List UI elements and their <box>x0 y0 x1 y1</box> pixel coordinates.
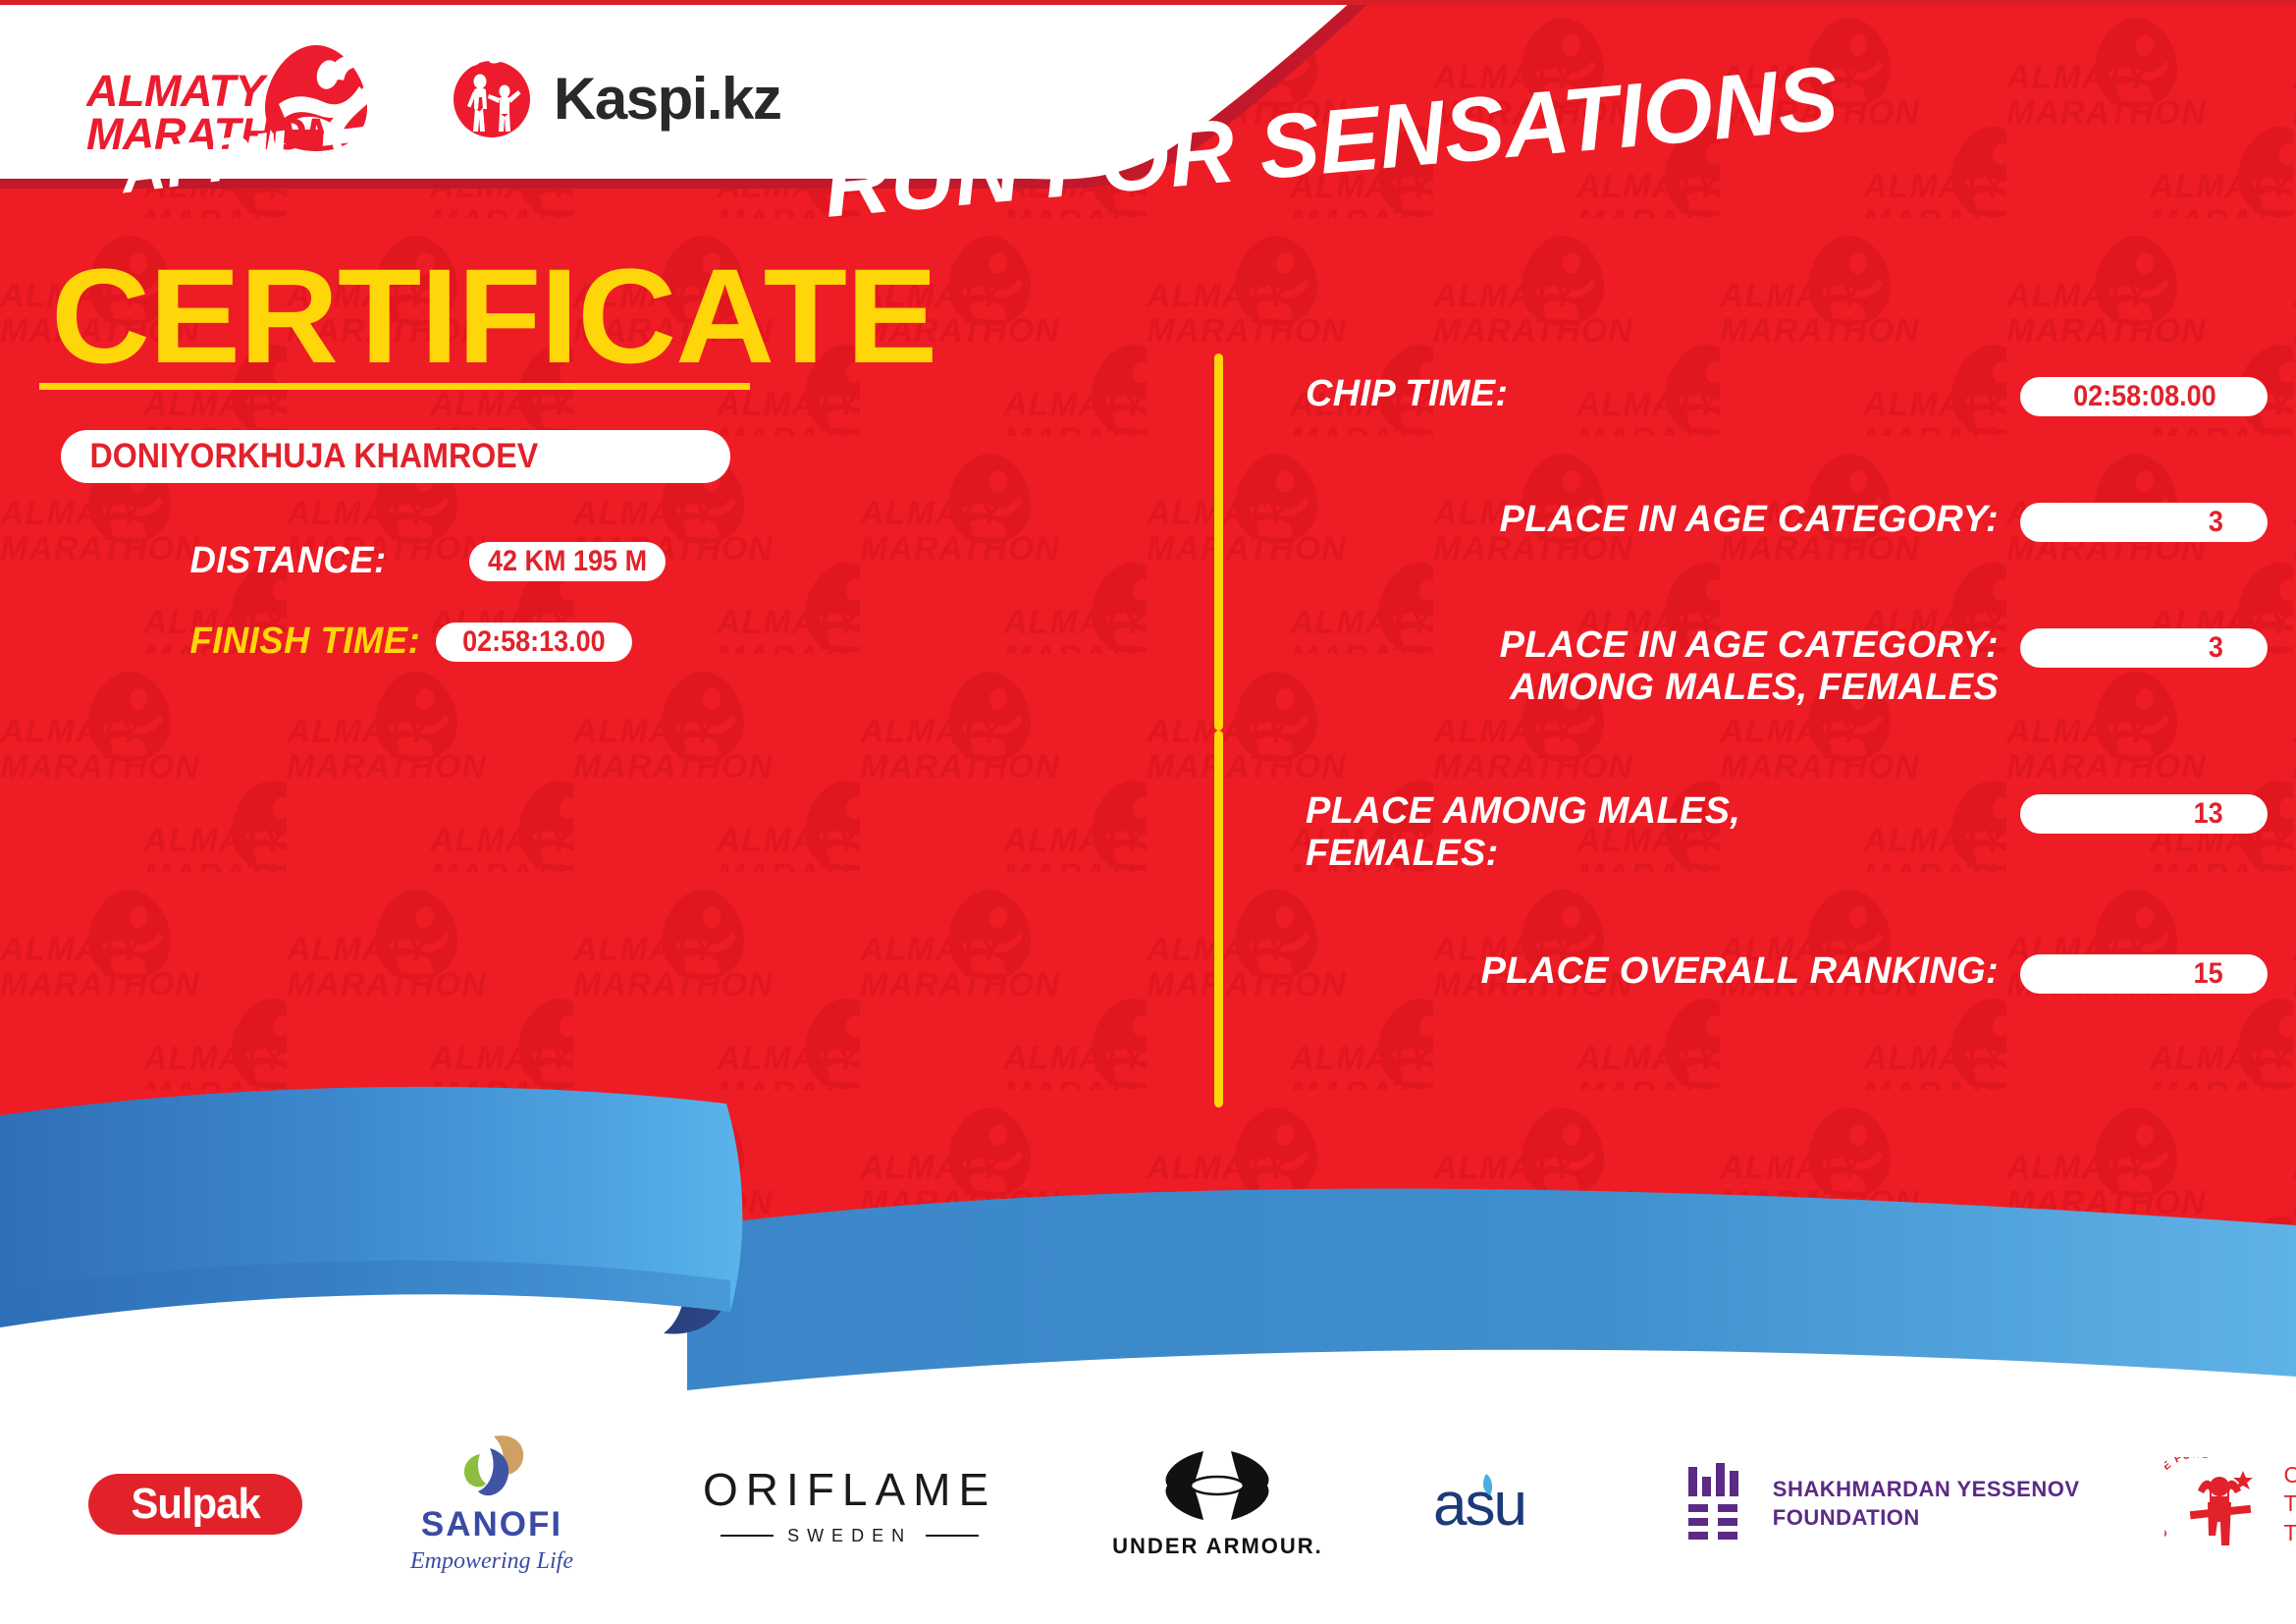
oriflame-wordmark: ORIFLAME <box>703 1463 996 1516</box>
under-armour-wordmark: UNDER ARMOUR. <box>1112 1534 1323 1559</box>
sponsor-strip: Sulpak SANOFI Empowering Life ORIFLAME S… <box>0 1406 2296 1602</box>
sulpak-pill: Sulpak <box>88 1474 302 1535</box>
sponsor-logo-yessenov-foundation: SHAKHMARDAN YESSENOV FOUNDATION <box>1686 1463 2080 1545</box>
place-age-category-among-label-line1: PLACE IN AGE CATEGORY: <box>1500 624 1999 666</box>
finish-time-label: FINISH TIME: <box>189 621 412 663</box>
certificate-right-column: CHIP TIME: 02:58:08.00 PLACE IN AGE CATE… <box>1276 373 2268 1119</box>
place-among-males-females-value: 13 <box>2193 797 2222 831</box>
result-row-place-among-males-females: PLACE AMONG MALES, FEMALES: 13 <box>1276 790 2268 874</box>
distance-row: DISTANCE: 42 KM 195 M <box>181 540 666 582</box>
sponsor-logo-oriflame: ORIFLAME SWEDEN <box>703 1463 996 1546</box>
place-among-males-females-value-pill: 13 <box>2020 794 2268 834</box>
sponsor-logo-sanofi: SANOFI Empowering Life <box>410 1435 573 1575</box>
place-age-category-among-value-pill: 3 <box>2020 628 2268 668</box>
oriflame-country: SWEDEN <box>787 1526 912 1546</box>
courage-fund-wordmark: COURAGE TO BE THE FIRST! <box>2284 1461 2296 1547</box>
column-divider-bottom <box>1214 731 1223 1108</box>
athlete-name-field: DONIYORKHUJA KHAMROEV <box>61 430 730 483</box>
svg-text:CORPORATE FUND: CORPORATE FUND <box>2164 1457 2212 1540</box>
courage-fund-mark-icon: CORPORATE FUND <box>2164 1457 2269 1551</box>
svg-text:asu: asu <box>1433 1471 1525 1539</box>
place-overall-ranking-label: PLACE OVERALL RANKING: <box>1276 950 2020 993</box>
courage-line3: THE FIRST! <box>2284 1520 2296 1545</box>
finish-time-value: 02:58:13.00 <box>462 625 606 659</box>
place-age-category-among-label-line2: AMONG MALES, FEMALES <box>1510 667 1999 708</box>
under-armour-mark-icon <box>1160 1449 1274 1522</box>
courage-line2: TO BE <box>2284 1490 2296 1516</box>
chip-time-label: CHIP TIME: <box>1276 373 2020 415</box>
asu-wordmark-icon: asu <box>1433 1468 1586 1541</box>
oriflame-sub-group: SWEDEN <box>703 1526 996 1546</box>
chip-time-value-pill: 02:58:08.00 <box>2020 377 2268 416</box>
finish-time-value-pill: 02:58:13.00 <box>436 623 632 662</box>
distance-label: DISTANCE: <box>189 540 412 582</box>
yessenov-mark-icon <box>1686 1463 1747 1545</box>
top-divider-rule <box>0 0 2296 5</box>
event-day: 21 <box>311 24 465 166</box>
courage-fund-arc-text: CORPORATE FUND <box>2164 1457 2212 1540</box>
sulpak-wordmark: Sulpak <box>131 1480 259 1529</box>
place-age-category-label: PLACE IN AGE CATEGORY: <box>1276 499 2020 541</box>
sponsor-logo-courage-fund: CORPORATE FUND COURAGE TO BE THE FIRST! <box>2164 1457 2296 1551</box>
athlete-name-value: DONIYORKHUJA KHAMROEV <box>61 437 538 476</box>
place-age-category-among-label: PLACE IN AGE CATEGORY: AMONG MALES, FEMA… <box>1276 624 2020 708</box>
event-ribbon-banner <box>0 1080 2296 1404</box>
sponsor-logo-asu: asu <box>1433 1468 1586 1541</box>
sanofi-tagline: Empowering Life <box>410 1548 573 1575</box>
place-age-category-among-value: 3 <box>2209 631 2223 665</box>
place-age-category-value: 3 <box>2209 506 2223 539</box>
event-day-suffix: st <box>452 16 504 80</box>
kaspi-wordmark: Kaspi.kz <box>554 70 780 129</box>
sanofi-wordmark: SANOFI <box>421 1505 562 1544</box>
sponsor-logo-sulpak: Sulpak <box>88 1474 302 1535</box>
certificate-card: ALMATY MARATHON <box>0 0 2296 1624</box>
yessenov-line2: FOUNDATION <box>1773 1505 1920 1530</box>
distance-value-pill: 42 KM 195 M <box>469 542 666 581</box>
place-overall-ranking-value-pill: 15 <box>2020 954 2268 994</box>
certificate-left-column: CERTIFICATE DONIYORKHUJA KHAMROEV DISTAN… <box>0 226 1207 1159</box>
sponsor-logo-under-armour: UNDER ARMOUR. <box>1112 1449 1323 1559</box>
place-among-males-females-label-line2: FEMALES: <box>1306 833 1499 874</box>
place-among-males-females-label: PLACE AMONG MALES, FEMALES: <box>1276 790 2020 874</box>
title-underline-rule <box>39 383 750 390</box>
place-age-category-value-pill: 3 <box>2020 503 2268 542</box>
page-title: CERTIFICATE <box>51 249 936 384</box>
sanofi-mark-icon <box>451 1435 533 1501</box>
result-row-place-age-category-among: PLACE IN AGE CATEGORY: AMONG MALES, FEMA… <box>1276 624 2268 708</box>
result-row-chip-time: CHIP TIME: 02:58:08.00 <box>1276 373 2268 416</box>
oriflame-rule-right <box>926 1535 979 1537</box>
yessenov-line1: SHAKHMARDAN YESSENOV <box>1773 1477 2080 1501</box>
courage-line1: COURAGE <box>2284 1462 2296 1488</box>
place-among-males-females-label-line1: PLACE AMONG MALES, <box>1306 790 1740 832</box>
result-row-place-age-category: PLACE IN AGE CATEGORY: 3 <box>1276 499 2268 542</box>
ribbon-right-band <box>687 1189 2296 1390</box>
column-divider-top <box>1214 353 1223 731</box>
distance-value: 42 KM 195 M <box>488 545 647 578</box>
finish-time-row: FINISH TIME: 02:58:13.00 <box>181 621 632 663</box>
chip-time-value: 02:58:08.00 <box>2073 380 2216 413</box>
place-overall-ranking-value: 15 <box>2193 957 2222 991</box>
yessenov-wordmark: SHAKHMARDAN YESSENOV FOUNDATION <box>1773 1476 2080 1532</box>
oriflame-rule-left <box>721 1535 774 1537</box>
result-row-place-overall-ranking: PLACE OVERALL RANKING: 15 <box>1276 950 2268 994</box>
